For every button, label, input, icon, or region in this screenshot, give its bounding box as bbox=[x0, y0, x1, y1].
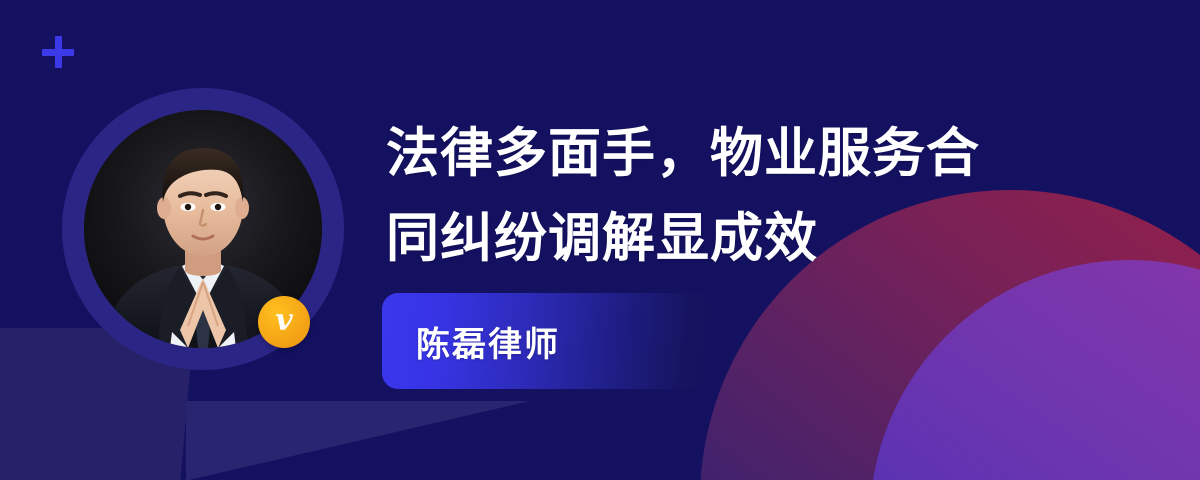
lawyer-name-label: 陈磊律师 bbox=[382, 317, 560, 366]
decor-wedge-shape bbox=[186, 401, 531, 480]
decor-inner-circle-shape bbox=[870, 260, 1200, 480]
lawyer-name-badge[interactable]: 陈磊律师 bbox=[382, 293, 712, 389]
page-title: 法律多面手，物业服务合 同纠纷调解显成效 bbox=[386, 112, 1086, 282]
lawyer-profile-banner: v 法律多面手，物业服务合 同纠纷调解显成效 陈磊律师 bbox=[0, 0, 1200, 480]
banner-content: 法律多面手，物业服务合 同纠纷调解显成效 bbox=[386, 112, 1086, 282]
verified-badge-icon: v bbox=[258, 296, 310, 348]
verified-v-glyph: v bbox=[275, 306, 292, 336]
plus-icon bbox=[42, 36, 74, 68]
avatar[interactable]: v bbox=[62, 88, 344, 370]
